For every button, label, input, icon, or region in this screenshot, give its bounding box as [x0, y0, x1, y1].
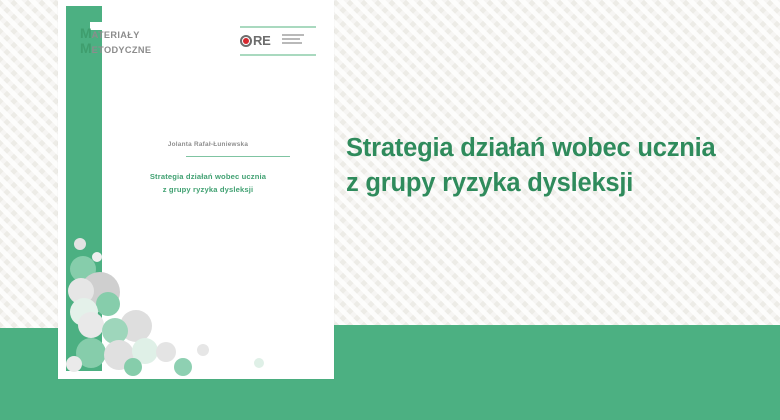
green-band-bottom	[0, 378, 780, 420]
page-title-line-1: Strategia działań wobec ucznia	[346, 131, 766, 166]
cover-title: Strategia działań wobec ucznia z grupy r…	[94, 170, 322, 197]
cover-bubble	[74, 238, 86, 250]
ore-logo-circle-icon	[240, 35, 252, 47]
cover-series-rest-2: ETODYCZNE	[92, 45, 152, 55]
cover-title-line-2: z grupy ryzyka dysleksji	[94, 183, 322, 196]
cover-series-cap-1: M	[80, 25, 92, 41]
ore-logo-rule-bottom	[240, 54, 316, 56]
ore-logo-word-line-1	[282, 34, 304, 36]
cover-bubble	[92, 252, 102, 262]
cover-bubble	[66, 356, 82, 372]
ore-logo-word-line-2	[282, 38, 300, 40]
ore-logo-red-dot-icon	[243, 38, 249, 44]
cover-author-name: Jolanta Rafał-Łuniewska	[94, 141, 322, 148]
cover-bubble	[96, 292, 120, 316]
ore-logo-rule-top	[240, 26, 316, 28]
page-title-line-2: z grupy ryzyka dysleksji	[346, 166, 766, 201]
cover-bubble	[156, 342, 176, 362]
cover-author-divider	[186, 156, 290, 157]
cover-series-line-2: METODYCZNE	[80, 41, 151, 56]
cover-bubble	[174, 358, 192, 376]
ore-logo-letters: RE	[253, 34, 270, 47]
cover-series-label: MATERIAŁY METODYCZNE	[80, 26, 151, 57]
cover-series-line-1: MATERIAŁY	[80, 26, 151, 41]
ore-logo-mark: RE	[240, 34, 270, 47]
ore-logo-wordmark-lines	[282, 34, 304, 44]
book-cover-image[interactable]: MATERIAŁY METODYCZNE RE	[58, 0, 334, 379]
page-title: Strategia działań wobec ucznia z grupy r…	[346, 131, 766, 200]
page-root: MATERIAŁY METODYCZNE RE	[0, 0, 780, 420]
cover-bubble	[78, 312, 104, 338]
cover-bubble	[124, 358, 142, 376]
cover-series-rest-1: ATERIAŁY	[92, 30, 140, 40]
cover-title-line-1: Strategia działań wobec ucznia	[94, 170, 322, 183]
ore-logo-word-line-3	[282, 42, 302, 44]
ore-logo: RE	[240, 26, 316, 58]
cover-bubble	[254, 358, 264, 368]
cover-series-cap-2: M	[80, 40, 92, 56]
book-cover-inner: MATERIAŁY METODYCZNE RE	[58, 0, 334, 379]
cover-bubble	[197, 344, 209, 356]
